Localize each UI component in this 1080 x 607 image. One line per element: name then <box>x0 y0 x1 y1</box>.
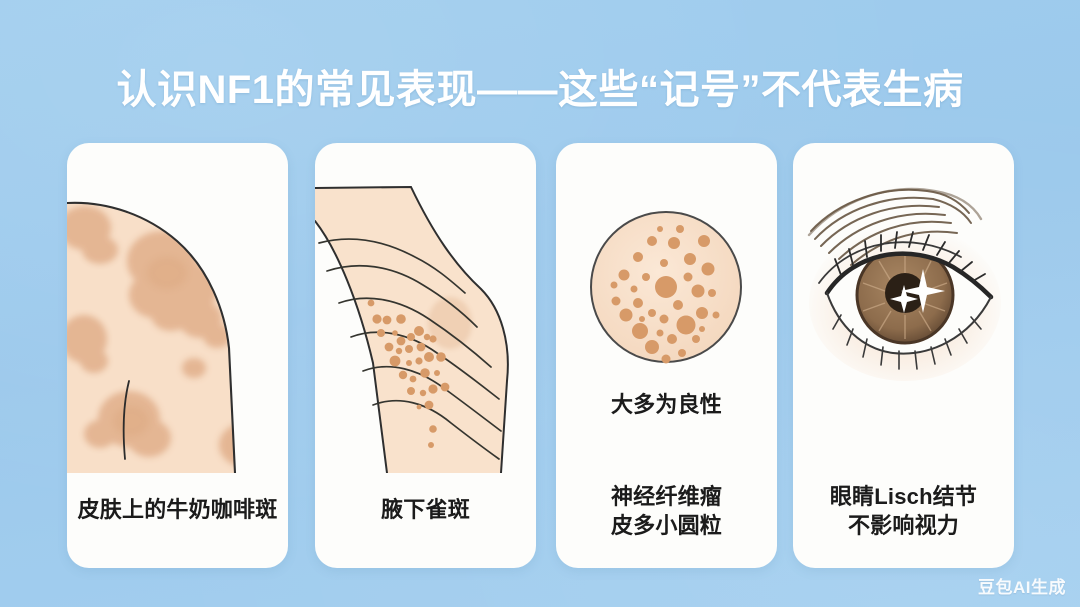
caption-line: 皮多小圆粒 <box>556 511 777 540</box>
watermark: 豆包AI生成 <box>978 573 1066 598</box>
caption-line: 不影响视力 <box>793 511 1014 540</box>
card-caption: 神经纤维瘤 皮多小圆粒 <box>556 482 777 540</box>
card-lisch-nodules[interactable]: 眼睛Lisch结节 不影响视力 <box>793 143 1014 568</box>
illustration-eye <box>793 143 1014 473</box>
card-caption: 皮肤上的牛奶咖啡斑 <box>67 495 288 524</box>
card-caption: 腋下雀斑 <box>315 495 536 524</box>
illustration-dot-circle <box>556 143 777 473</box>
card-caption: 眼睛Lisch结节 不影响视力 <box>793 482 1014 540</box>
caption-line: 皮肤上的牛奶咖啡斑 <box>67 495 288 524</box>
page-title: 认识NF1的常见表现——这些“记号”不代表生病 <box>0 57 1080 115</box>
caption-line: 神经纤维瘤 <box>556 482 777 511</box>
illustration-arm-freckles <box>315 143 536 473</box>
inner-note: 大多为良性 <box>556 387 777 419</box>
caption-line: 眼睛Lisch结节 <box>793 482 1014 511</box>
illustration-shoulder-skin <box>67 143 288 473</box>
card-cafe-au-lait[interactable]: 皮肤上的牛奶咖啡斑 <box>67 143 288 568</box>
card-axillary-freckling[interactable]: 腋下雀斑 <box>315 143 536 568</box>
card-neurofibroma[interactable]: 大多为良性 神经纤维瘤 皮多小圆粒 <box>556 143 777 568</box>
infographic-canvas: 认识NF1的常见表现——这些“记号”不代表生病 <box>0 0 1080 607</box>
caption-line: 腋下雀斑 <box>315 495 536 524</box>
